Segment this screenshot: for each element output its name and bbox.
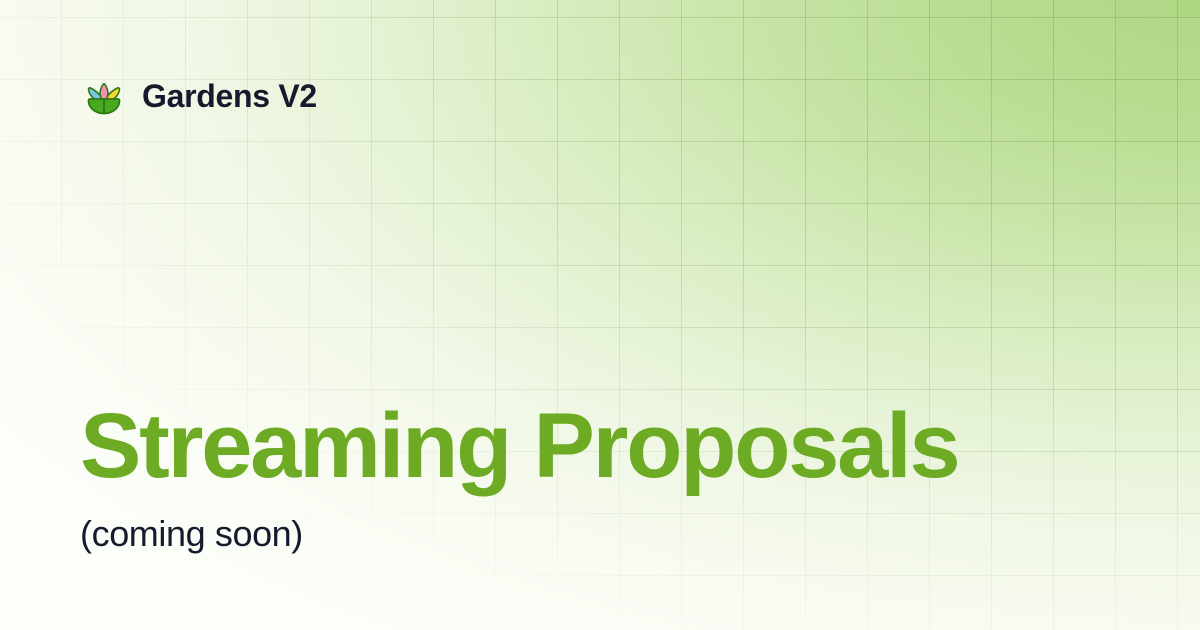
page-title: Streaming Proposals — [80, 400, 1120, 492]
page-subtitle: (coming soon) — [80, 514, 1120, 554]
lotus-flower-icon — [80, 72, 128, 120]
hero-text-block: Streaming Proposals (coming soon) — [80, 400, 1120, 554]
og-card: Gardens V2 Streaming Proposals (coming s… — [0, 0, 1200, 630]
brand-name: Gardens V2 — [142, 80, 317, 112]
brand-lockup: Gardens V2 — [80, 72, 317, 120]
